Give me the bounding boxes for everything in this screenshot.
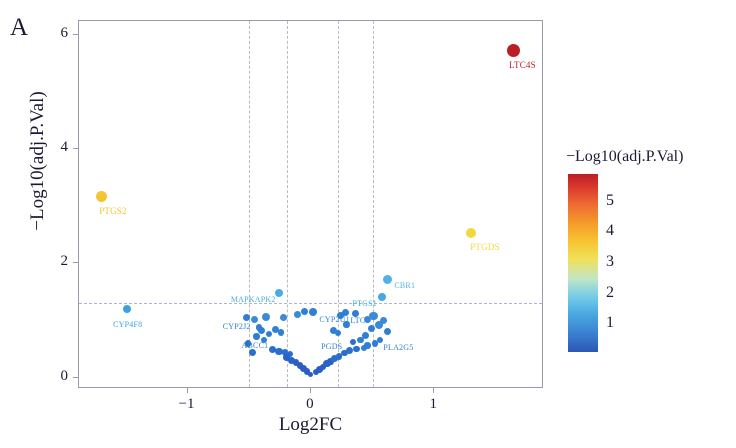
point-label-ltc4s: LTC4S <box>509 60 536 70</box>
colorbar-tick-label: 4 <box>606 222 614 240</box>
data-point-mapkapk2 <box>275 289 283 297</box>
x-tick-mark <box>187 388 188 393</box>
data-point <box>249 349 256 356</box>
x-tick-mark <box>433 388 434 393</box>
x-tick-label: 1 <box>413 396 453 413</box>
colorbar-gradient <box>568 174 598 352</box>
data-point <box>362 332 369 339</box>
data-point <box>368 325 375 332</box>
colorbar-tick-label: 5 <box>606 192 614 210</box>
point-label-ptgds: PTGDS <box>470 242 500 252</box>
data-point <box>346 347 353 354</box>
data-point-ltc4 <box>342 309 349 316</box>
y-tick-mark <box>73 262 78 263</box>
point-label-ptgs1: PTGS1 <box>352 299 377 308</box>
point-label-cyp4f8: CYP4F8 <box>113 320 142 329</box>
data-point-ltc4s <box>507 44 520 57</box>
y-tick-mark <box>73 377 78 378</box>
data-point-cbr1 <box>383 275 392 284</box>
data-point <box>294 311 301 318</box>
colorbar-tick-label: 3 <box>606 253 614 271</box>
point-label-mapkapk2: MAPKAPK2 <box>231 295 276 304</box>
data-point <box>380 317 387 324</box>
data-point-ptgds <box>466 228 476 238</box>
point-label-pgds: PGDS <box>321 342 342 351</box>
data-point-pgds <box>330 327 337 334</box>
data-point <box>253 333 259 339</box>
panel-letter: A <box>10 14 28 42</box>
y-tick-mark <box>73 34 78 35</box>
x-tick-label: 0 <box>290 396 330 413</box>
threshold-hline <box>79 303 542 304</box>
volcano-plot-figure: A LTC4SPTGS2PTGDSCBR1PTGS1MAPKAPK2CYP4F8… <box>0 0 736 448</box>
data-point <box>280 314 287 321</box>
data-point <box>266 331 272 337</box>
point-label-cbr1: CBR1 <box>394 281 415 290</box>
x-axis-title: Log2FC <box>78 414 543 436</box>
data-point-ptgs2 <box>96 191 107 202</box>
colorbar-body: 54321 <box>566 174 734 352</box>
plot-area: LTC4SPTGS2PTGDSCBR1PTGS1MAPKAPK2CYP4F8CY… <box>78 20 543 388</box>
data-point-abcc1 <box>258 327 265 334</box>
data-point <box>262 313 270 321</box>
data-point <box>301 308 308 315</box>
data-point <box>369 312 378 321</box>
data-point <box>251 316 258 323</box>
point-label-ltc4: LTC4 <box>350 316 369 325</box>
colorbar-legend: −Log10(adj.P.Val) 54321 <box>566 148 734 352</box>
colorbar-title: −Log10(adj.P.Val) <box>566 148 734 166</box>
point-label-pla2g5: PLA2G5 <box>383 343 413 352</box>
data-point <box>350 339 356 345</box>
colorbar-tick-label: 2 <box>606 284 614 302</box>
y-axis-title: −Log10(adj.P.Val) <box>27 11 49 311</box>
data-point <box>278 329 284 335</box>
data-point-cyp4f8 <box>123 305 131 313</box>
data-point <box>377 337 384 344</box>
data-point-cyp2u1 <box>309 308 317 316</box>
threshold-vline-0 <box>249 21 250 387</box>
data-point <box>353 346 359 352</box>
colorbar-tick-label: 1 <box>606 314 614 332</box>
x-tick-label: −1 <box>167 396 207 413</box>
point-label-ptgs2: PTGS2 <box>99 206 127 216</box>
point-label-cyp2j2: CYP2J2 <box>223 322 251 331</box>
data-point-pla2g5 <box>384 328 391 335</box>
y-tick-label: 0 <box>44 368 68 385</box>
data-point <box>364 342 370 348</box>
point-label-cyp2u1: CYP2U1 <box>319 315 350 324</box>
x-tick-mark <box>310 388 311 393</box>
point-label-abcc1: ABCC1 <box>242 341 269 350</box>
threshold-vline-3 <box>373 21 374 387</box>
y-tick-mark <box>73 148 78 149</box>
threshold-vline-1 <box>287 21 288 387</box>
data-point-ptgs1 <box>378 293 386 301</box>
